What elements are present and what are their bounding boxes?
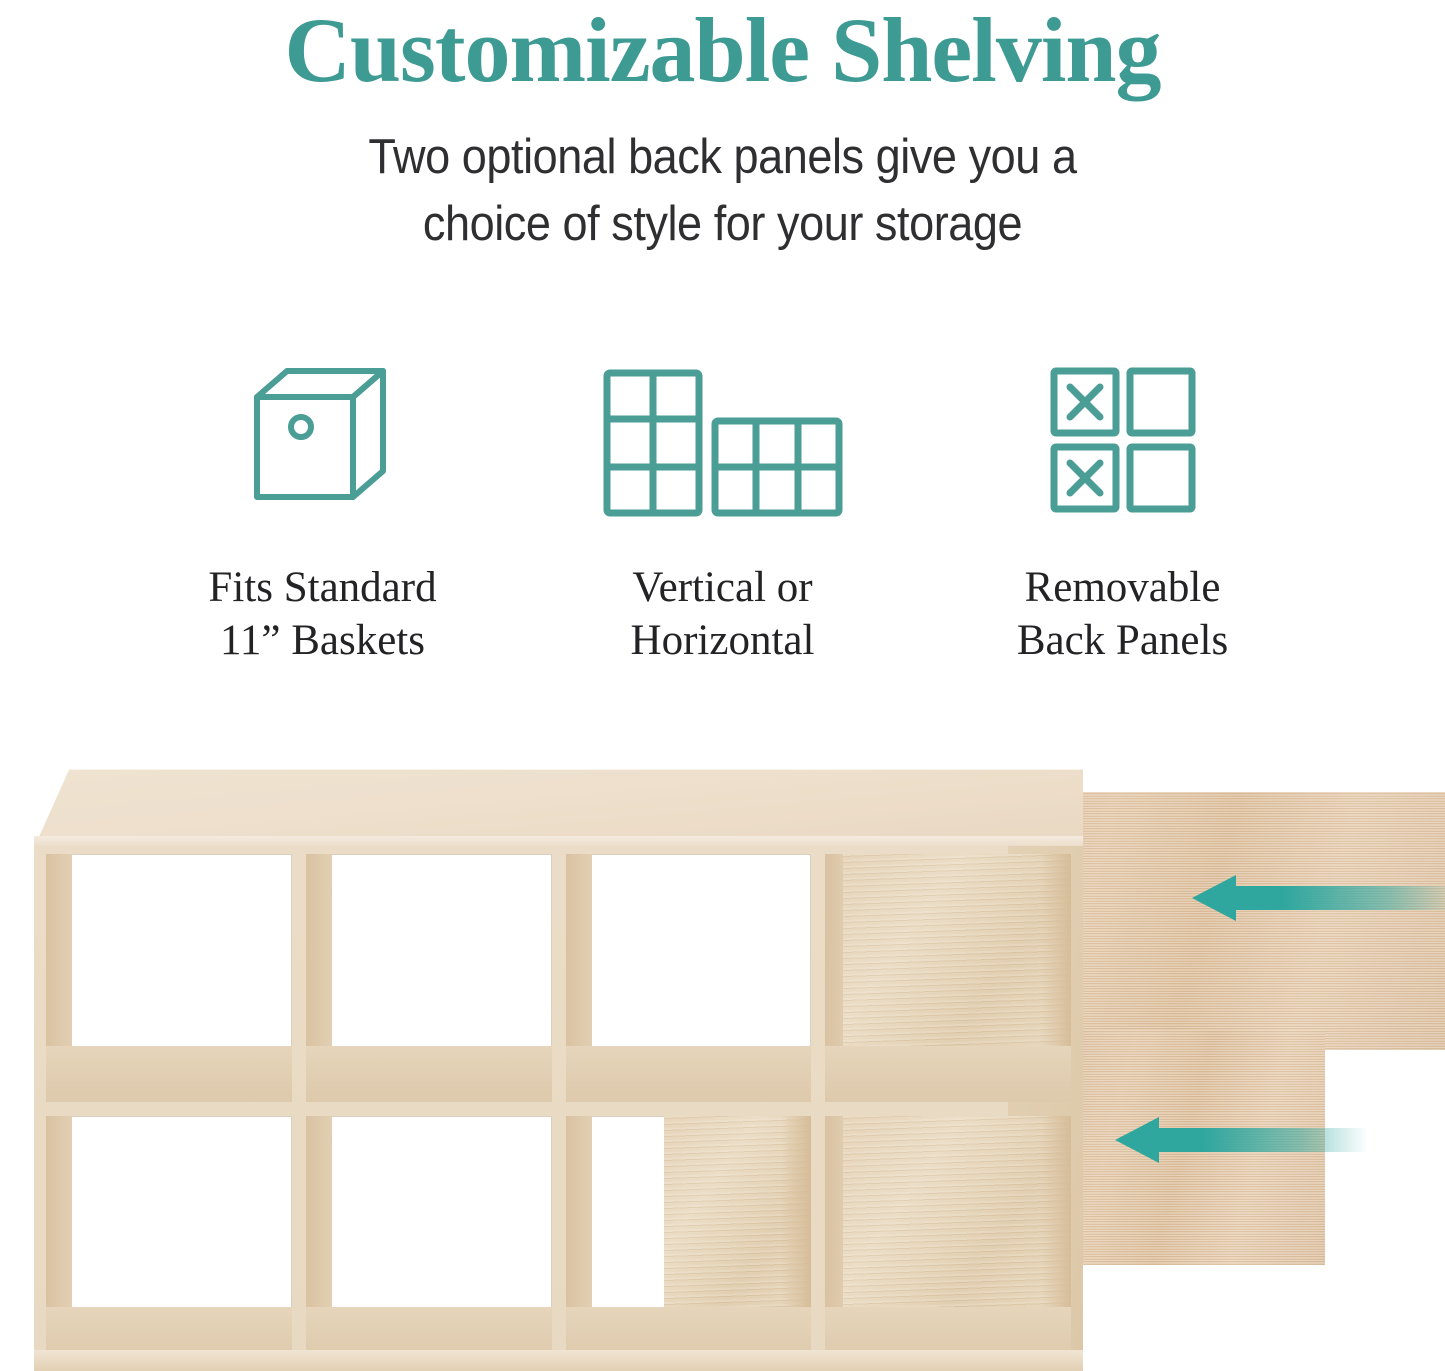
cubby-bottom-2	[306, 1116, 552, 1364]
cubby-grid	[46, 854, 1071, 1363]
page-title: Customizable Shelving	[0, 0, 1445, 98]
cubby-top-4	[825, 854, 1071, 1102]
storage-bin-cube-icon	[243, 355, 403, 523]
feature-label-panels: Removable Back Panels	[1017, 561, 1228, 668]
cubby-bottom-1	[46, 1116, 292, 1364]
subtitle-line-2: choice of style for your storage	[58, 191, 1387, 259]
feature-list: Fits Standard 11” Baskets	[0, 355, 1445, 668]
arrow-head	[1192, 875, 1236, 921]
cubby-floor	[825, 1046, 1071, 1102]
cubby-bottom-4	[825, 1116, 1071, 1364]
page-subtitle: Two optional back panels give you a choi…	[58, 124, 1387, 259]
unit-base-plinth	[34, 1350, 1083, 1371]
feature-label-baskets: Fits Standard 11” Baskets	[208, 561, 436, 668]
vertical-horizontal-grid-icon	[601, 355, 845, 523]
subtitle-line-1: Two optional back panels give you a	[58, 124, 1387, 192]
cubby-top-3	[566, 854, 812, 1102]
arrow-head	[1115, 1117, 1159, 1163]
slide-arrow-top-icon	[1192, 875, 1445, 921]
arrow-tail	[1157, 1128, 1368, 1152]
cubby-floor	[306, 1046, 552, 1102]
cubby-floor	[46, 1046, 292, 1102]
feature-item-orientation: Vertical or Horizontal	[523, 355, 923, 668]
cubby-floor	[566, 1046, 812, 1102]
feature-item-panels: Removable Back Panels	[923, 355, 1323, 668]
feature-item-baskets: Fits Standard 11” Baskets	[123, 355, 523, 668]
arrow-tail	[1234, 886, 1445, 910]
infographic-page: Customizable Shelving Two optional back …	[0, 0, 1445, 1371]
cubby-top-2	[306, 854, 552, 1102]
shelving-unit	[0, 768, 1083, 1371]
removable-back-panels-icon	[1048, 355, 1198, 523]
cubby-top-1	[46, 854, 292, 1102]
product-photo	[0, 762, 1445, 1371]
header: Customizable Shelving Two optional back …	[0, 0, 1445, 259]
feature-label-orientation: Vertical or Horizontal	[631, 561, 815, 668]
cubby-bottom-3	[566, 1116, 812, 1364]
slide-arrow-bottom-icon	[1115, 1117, 1368, 1163]
